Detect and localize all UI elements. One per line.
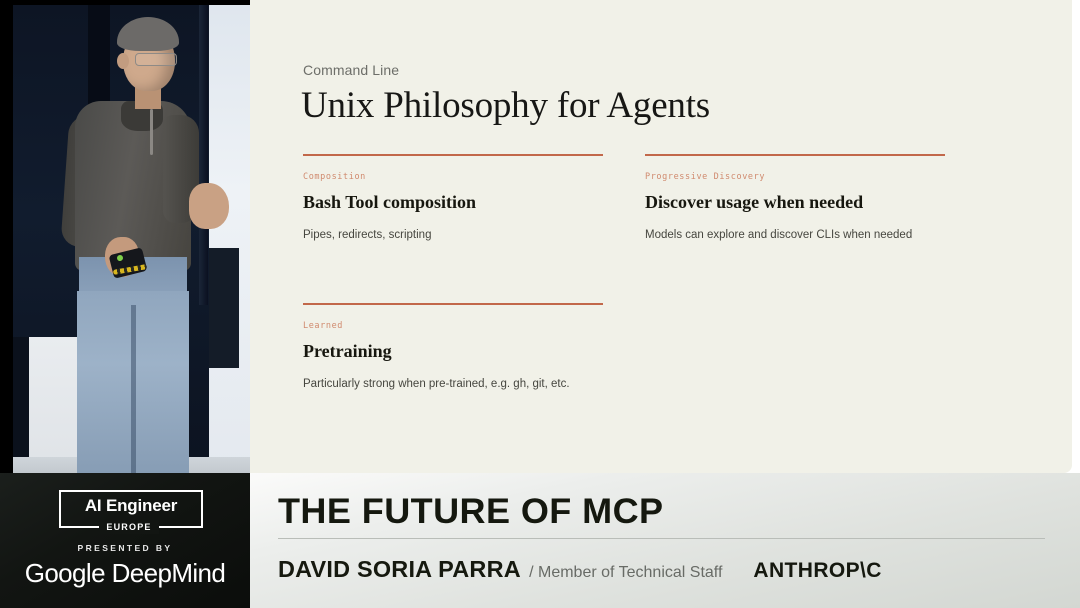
speaker-figure: [13, 5, 250, 473]
sponsor-name-label: Google DeepMind: [0, 558, 250, 589]
ai-engineer-brand-label: AI Engineer: [61, 496, 201, 516]
card-heading: Pretraining: [303, 341, 603, 362]
ai-engineer-region-wrap: EUROPE: [59, 517, 199, 531]
card-tag: Composition: [303, 172, 603, 182]
card-tag: Progressive Discovery: [645, 172, 945, 182]
speaker-zipper: [150, 109, 153, 155]
speaker-glasses: [135, 53, 177, 66]
card-accent-rule: [303, 303, 603, 305]
speaker-info-row: DAVID SORIA PARRA / Member of Technical …: [278, 556, 882, 583]
speaker-role: / Member of Technical Staff: [529, 564, 722, 582]
slide-card: Learned Pretraining Particularly strong …: [303, 303, 603, 392]
card-accent-rule: [645, 154, 945, 156]
speaker-right-hand: [189, 183, 229, 229]
speaker-ear: [117, 53, 129, 69]
speaker-name: DAVID SORIA PARRA: [278, 556, 521, 583]
talk-info-banner: THE FUTURE OF MCP DAVID SORIA PARRA / Me…: [250, 473, 1080, 608]
slide-eyebrow: Command Line: [303, 62, 399, 78]
slide-surface: Command Line Unix Philosophy for Agents …: [250, 0, 1072, 473]
banner-divider: [278, 538, 1045, 539]
card-body: Pipes, redirects, scripting: [303, 227, 603, 243]
card-tag: Learned: [303, 321, 603, 331]
speaker-video-frame[interactable]: [13, 5, 250, 473]
card-accent-rule: [303, 154, 603, 156]
speaker-leg-seam: [131, 305, 136, 473]
slide-card: Progressive Discovery Discover usage whe…: [645, 154, 945, 243]
ai-engineer-region-label: EUROPE: [99, 520, 158, 534]
card-heading: Bash Tool composition: [303, 192, 603, 213]
slide-card: Composition Bash Tool composition Pipes,…: [303, 154, 603, 243]
presented-by-label: PRESENTED BY: [0, 543, 250, 553]
slide-content: Command Line Unix Philosophy for Agents …: [303, 0, 1072, 473]
presentation-stage: AI Engineer EUROPE PRESENTED BY Google D…: [0, 0, 1080, 608]
talk-title: THE FUTURE OF MCP: [278, 492, 664, 532]
speaker-hair: [117, 17, 179, 51]
sponsor-logo-panel: AI Engineer EUROPE PRESENTED BY Google D…: [0, 473, 250, 608]
slide-title: Unix Philosophy for Agents: [301, 84, 710, 127]
card-body: Particularly strong when pre-trained, e.…: [303, 376, 603, 392]
card-body: Models can explore and discover CLIs whe…: [645, 227, 945, 243]
speaker-organization: ANTHROP\C: [753, 559, 881, 583]
card-heading: Discover usage when needed: [645, 192, 945, 213]
